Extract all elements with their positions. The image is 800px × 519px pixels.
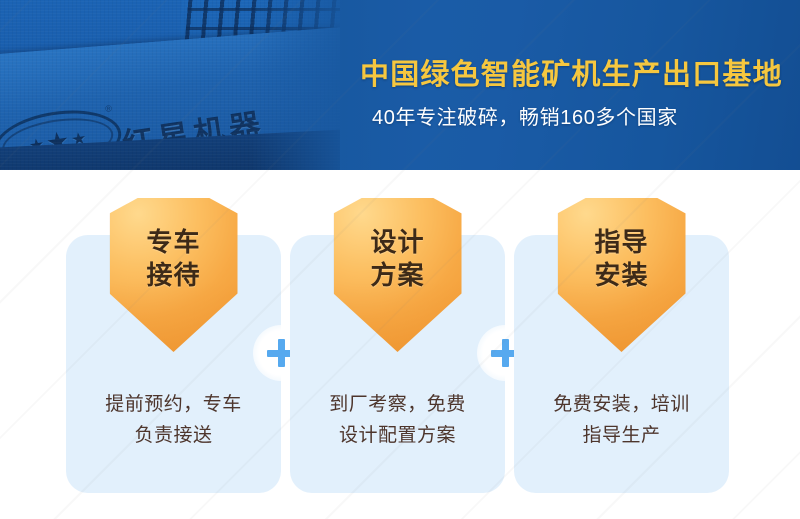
card-description-installation: 免费安装，培训 指导生产 bbox=[524, 390, 719, 452]
desc-line2: 设计配置方案 bbox=[300, 421, 495, 452]
service-card-design[interactable]: 设计 方案 到厂考察，免费 设计配置方案 bbox=[290, 235, 505, 493]
header-subtitle: 40年专注破碎，畅销160多个国家 bbox=[372, 101, 800, 130]
desc-line2: 负责接送 bbox=[76, 421, 271, 452]
badge-design: 设计 方案 bbox=[334, 198, 462, 352]
badge-label-reception: 专车 接待 bbox=[110, 226, 238, 293]
desc-line1: 免费安装，培训 bbox=[553, 394, 690, 415]
service-card-installation[interactable]: 指导 安装 免费安装，培训 指导生产 bbox=[514, 235, 729, 493]
registered-trademark-icon: ® bbox=[105, 103, 112, 113]
badge-line1: 指导 bbox=[594, 227, 648, 257]
badge-line2: 安装 bbox=[558, 259, 686, 292]
header-text-block: 中国绿色智能矿机生产出口基地 40年专注破碎，畅销160多个国家 bbox=[360, 0, 800, 170]
service-banner-page: ★ ★ ★ ® 红星机器 HONGXING MACHINERY 中国绿色智能矿机… bbox=[0, 0, 800, 519]
badge-line1: 专车 bbox=[146, 227, 200, 257]
desc-line1: 提前预约，专车 bbox=[105, 394, 242, 415]
card-description-reception: 提前预约，专车 负责接送 bbox=[76, 390, 271, 452]
banner-header: ★ ★ ★ ® 红星机器 HONGXING MACHINERY 中国绿色智能矿机… bbox=[0, 0, 800, 170]
card-description-design: 到厂考察，免费 设计配置方案 bbox=[300, 390, 495, 452]
service-card-reception[interactable]: 专车 接待 提前预约，专车 负责接送 bbox=[66, 235, 281, 493]
badge-line2: 方案 bbox=[334, 259, 462, 292]
badge-reception: 专车 接待 bbox=[110, 198, 238, 352]
header-title: 中国绿色智能矿机生产出口基地 bbox=[360, 51, 790, 93]
badge-line2: 接待 bbox=[110, 259, 238, 292]
badge-line1: 设计 bbox=[370, 227, 424, 257]
badge-label-design: 设计 方案 bbox=[334, 226, 462, 293]
desc-line1: 到厂考察，免费 bbox=[329, 394, 466, 415]
desc-line2: 指导生产 bbox=[524, 421, 719, 452]
badge-installation: 指导 安装 bbox=[558, 198, 686, 352]
badge-label-installation: 指导 安装 bbox=[558, 226, 686, 293]
service-cards-section: 专车 接待 提前预约，专车 负责接送 设计 方案 到厂考察，免费 bbox=[0, 170, 800, 519]
